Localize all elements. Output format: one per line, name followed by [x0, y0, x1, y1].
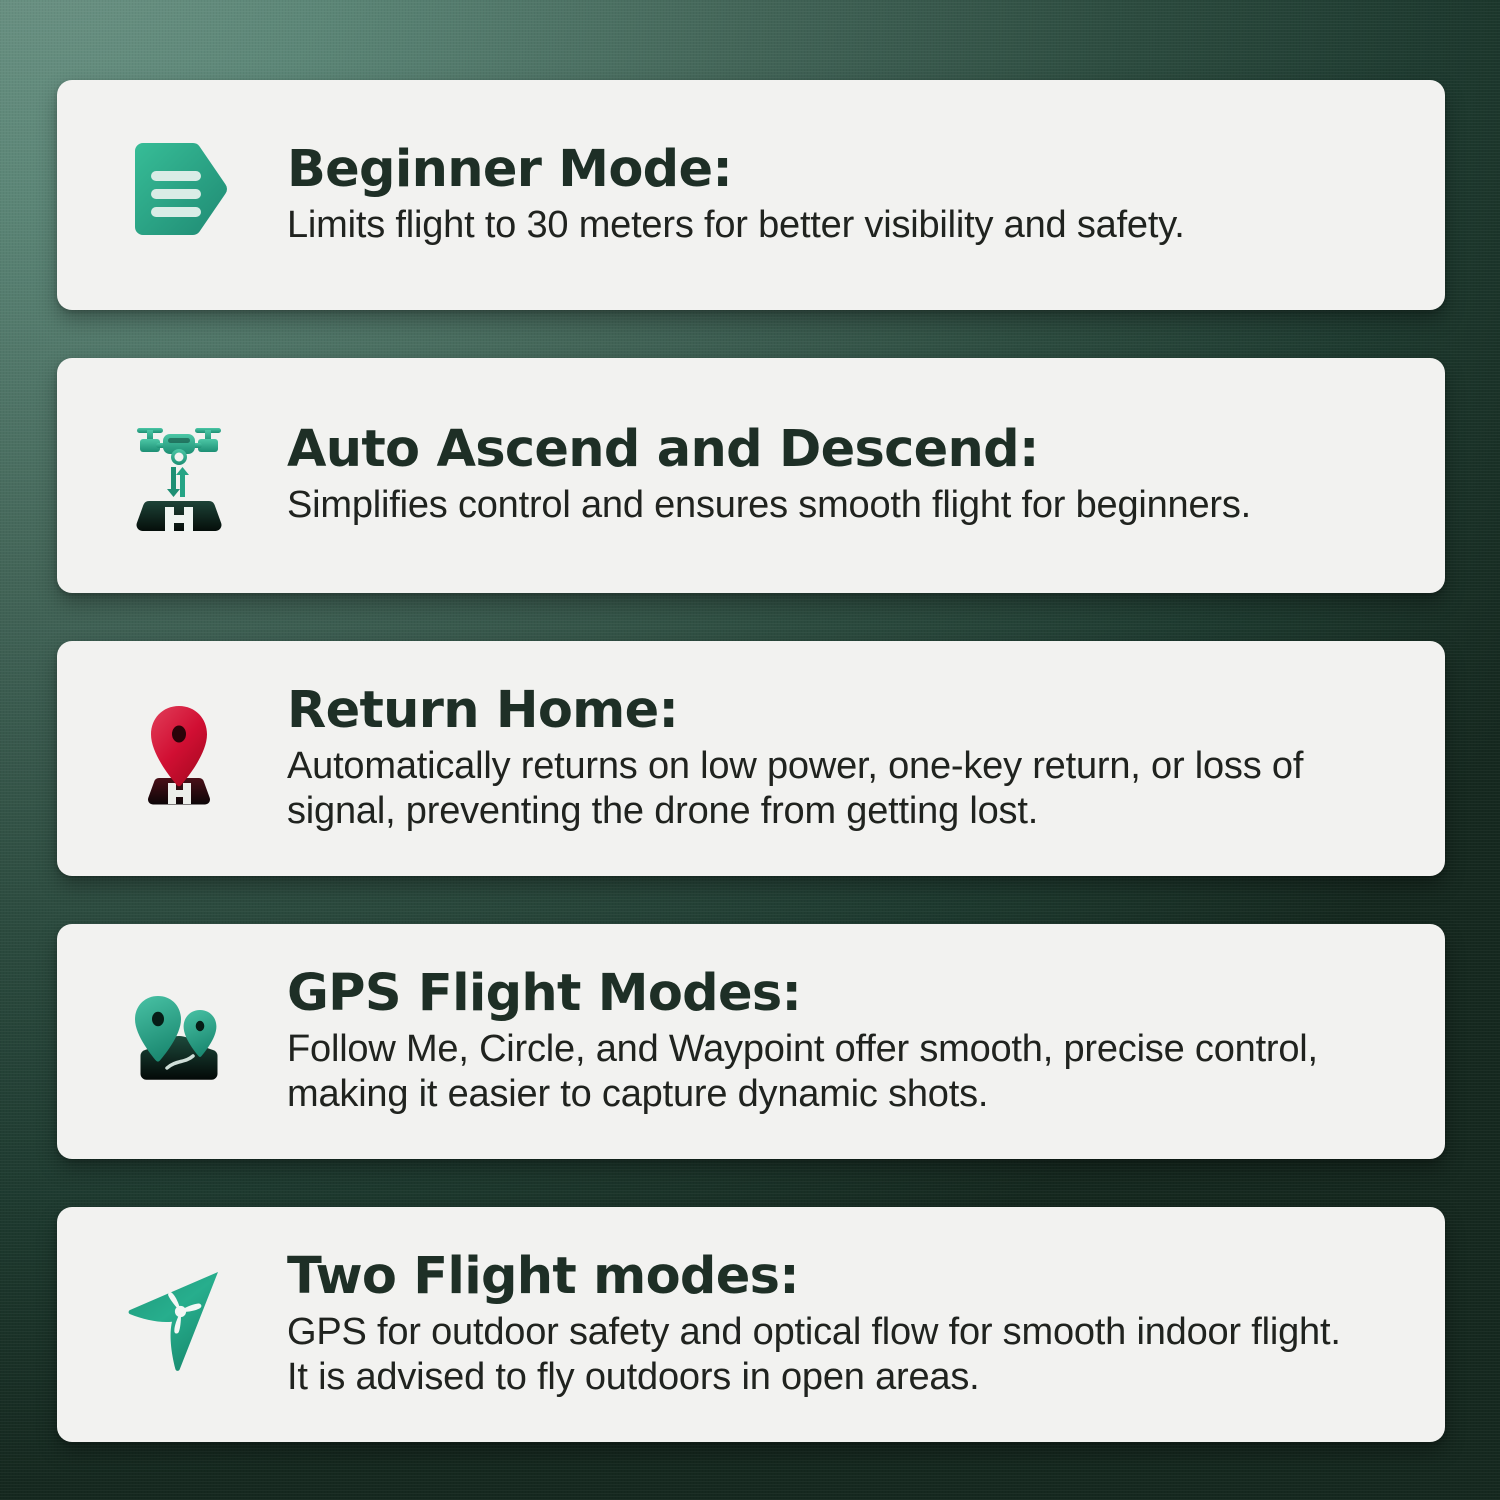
- feature-description-line: Automatically returns on low power, one-…: [287, 744, 1303, 789]
- feature-description-line: Simplifies control and ensures smooth fl…: [287, 483, 1251, 528]
- feature-description: Automatically returns on low power, one-…: [287, 744, 1303, 834]
- drone-landing-pad-icon: [119, 417, 239, 535]
- feature-description-line: It is advised to fly outdoors in open ar…: [287, 1355, 1341, 1400]
- feature-card-two-flight-modes[interactable]: Two Flight modes: GPS for outdoor safety…: [57, 1207, 1445, 1442]
- feature-title: Two Flight modes:: [287, 1250, 1341, 1304]
- feature-text-block: GPS Flight Modes: Follow Me, Circle, and…: [239, 967, 1318, 1117]
- feature-description: Limits flight to 30 meters for better vi…: [287, 203, 1185, 248]
- feature-text-block: Beginner Mode: Limits flight to 30 meter…: [239, 143, 1185, 248]
- feature-card-return-home[interactable]: Return Home: Automatically returns on lo…: [57, 641, 1445, 876]
- document-lines-tag-icon: [119, 139, 239, 251]
- feature-text-block: Auto Ascend and Descend: Simplifies cont…: [239, 423, 1251, 528]
- feature-card-auto-ascend-descend[interactable]: Auto Ascend and Descend: Simplifies cont…: [57, 358, 1445, 593]
- feature-text-block: Return Home: Automatically returns on lo…: [239, 684, 1303, 834]
- dual-map-pins-terrain-icon: [119, 990, 239, 1094]
- feature-card-beginner-mode[interactable]: Beginner Mode: Limits flight to 30 meter…: [57, 80, 1445, 310]
- feature-title: GPS Flight Modes:: [287, 967, 1318, 1021]
- feature-title: Return Home:: [287, 684, 1303, 738]
- navigation-arrow-propeller-icon: [119, 1264, 239, 1386]
- feature-description: Simplifies control and ensures smooth fl…: [287, 483, 1251, 528]
- feature-title: Auto Ascend and Descend:: [287, 423, 1251, 477]
- map-pin-helipad-icon: [119, 700, 239, 818]
- feature-text-block: Two Flight modes: GPS for outdoor safety…: [239, 1250, 1341, 1400]
- feature-description-line: signal, preventing the drone from gettin…: [287, 789, 1303, 834]
- feature-description-line: Limits flight to 30 meters for better vi…: [287, 203, 1185, 248]
- feature-description: Follow Me, Circle, and Waypoint offer sm…: [287, 1027, 1318, 1117]
- feature-list-page: Beginner Mode: Limits flight to 30 meter…: [0, 0, 1500, 1500]
- feature-description-line: Follow Me, Circle, and Waypoint offer sm…: [287, 1027, 1318, 1072]
- feature-title: Beginner Mode:: [287, 143, 1185, 197]
- feature-description: GPS for outdoor safety and optical flow …: [287, 1310, 1341, 1400]
- feature-card-list: Beginner Mode: Limits flight to 30 meter…: [57, 80, 1445, 1442]
- feature-card-gps-flight-modes[interactable]: GPS Flight Modes: Follow Me, Circle, and…: [57, 924, 1445, 1159]
- feature-description-line: making it easier to capture dynamic shot…: [287, 1072, 1318, 1117]
- feature-description-line: GPS for outdoor safety and optical flow …: [287, 1310, 1341, 1355]
